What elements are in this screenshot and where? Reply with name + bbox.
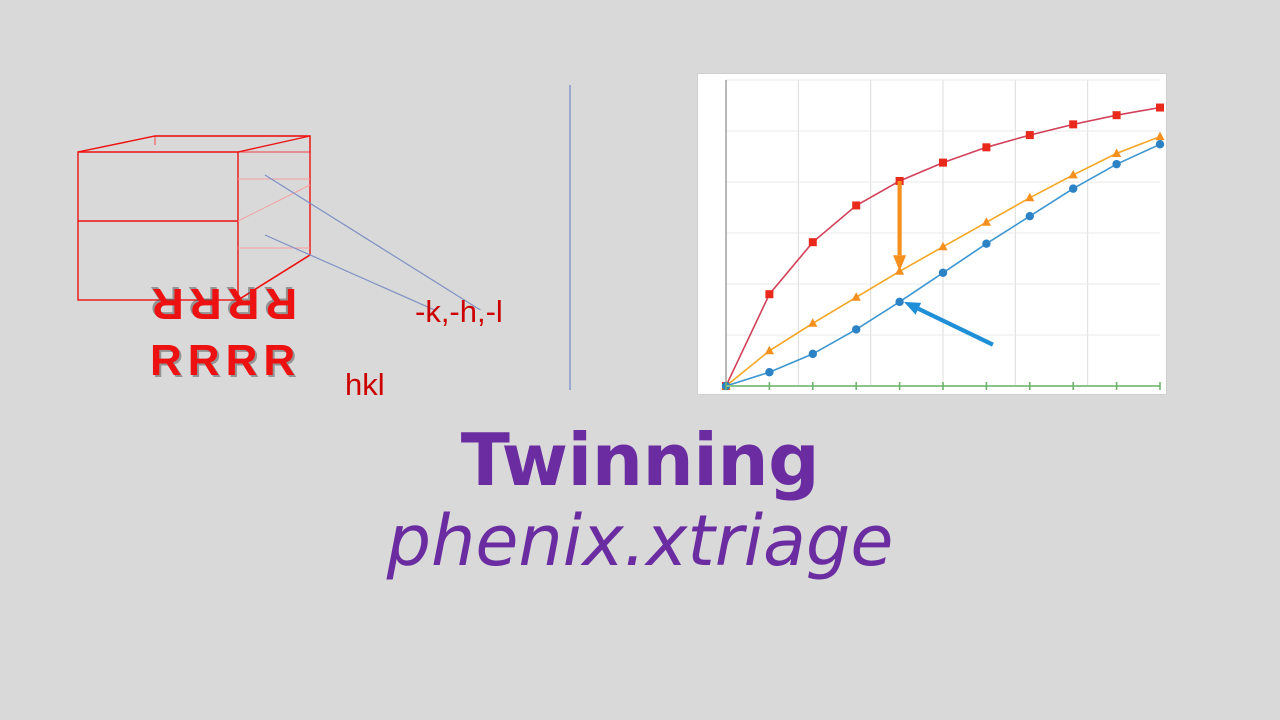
data-point-marker [895,298,903,306]
data-point-marker [765,290,773,298]
data-point-marker [939,159,947,167]
title-block: Twinning phenix.xtriage [0,424,1280,582]
box-front-face [78,136,310,300]
pointer-rays [265,175,560,310]
data-point-marker [1026,131,1034,139]
main-letter: R [150,339,184,383]
page-title: Twinning [0,424,1280,497]
twin-letter: R [226,281,260,325]
data-point-marker [1069,184,1077,192]
main-index-label: hkl [345,369,385,400]
data-point-marker [1156,140,1164,148]
data-point-marker [939,269,947,277]
twin-letter: R [263,281,297,325]
twin-index-label: -k,-h,-l [415,296,503,327]
crystal-box-svg [60,120,560,310]
data-point-marker [1112,160,1120,168]
twin-letter: R [188,281,222,325]
data-point-marker [809,238,817,246]
cumulative-intensity-chart [697,73,1167,395]
data-point-marker [1026,212,1034,220]
twin-domain-letter-row: R R R R [148,281,299,325]
data-point-marker [1156,104,1164,112]
main-letter: R [226,339,260,383]
page-subtitle: phenix.xtriage [0,501,1280,582]
main-letter: R [263,339,297,383]
data-point-marker [765,368,773,376]
twin-letter: R [150,281,184,325]
data-point-marker [1069,120,1077,128]
data-point-marker [852,201,860,209]
twinned-crystal-diagram: R R R R R R R R -k,-h,-l hkl [60,120,560,310]
slide-canvas: R R R R R R R R -k,-h,-l hkl Twinning ph… [0,0,1280,720]
data-point-marker [982,143,990,151]
data-point-marker [852,325,860,333]
box-inner-guides [238,179,310,248]
chart-svg [698,74,1166,394]
main-letter: R [188,339,222,383]
data-point-marker [809,350,817,358]
vertical-divider [569,85,571,390]
chart-plot-background [698,74,1166,394]
data-point-marker [1113,111,1121,119]
main-domain-letter-row: R R R R [148,339,299,383]
data-point-marker [982,240,990,248]
